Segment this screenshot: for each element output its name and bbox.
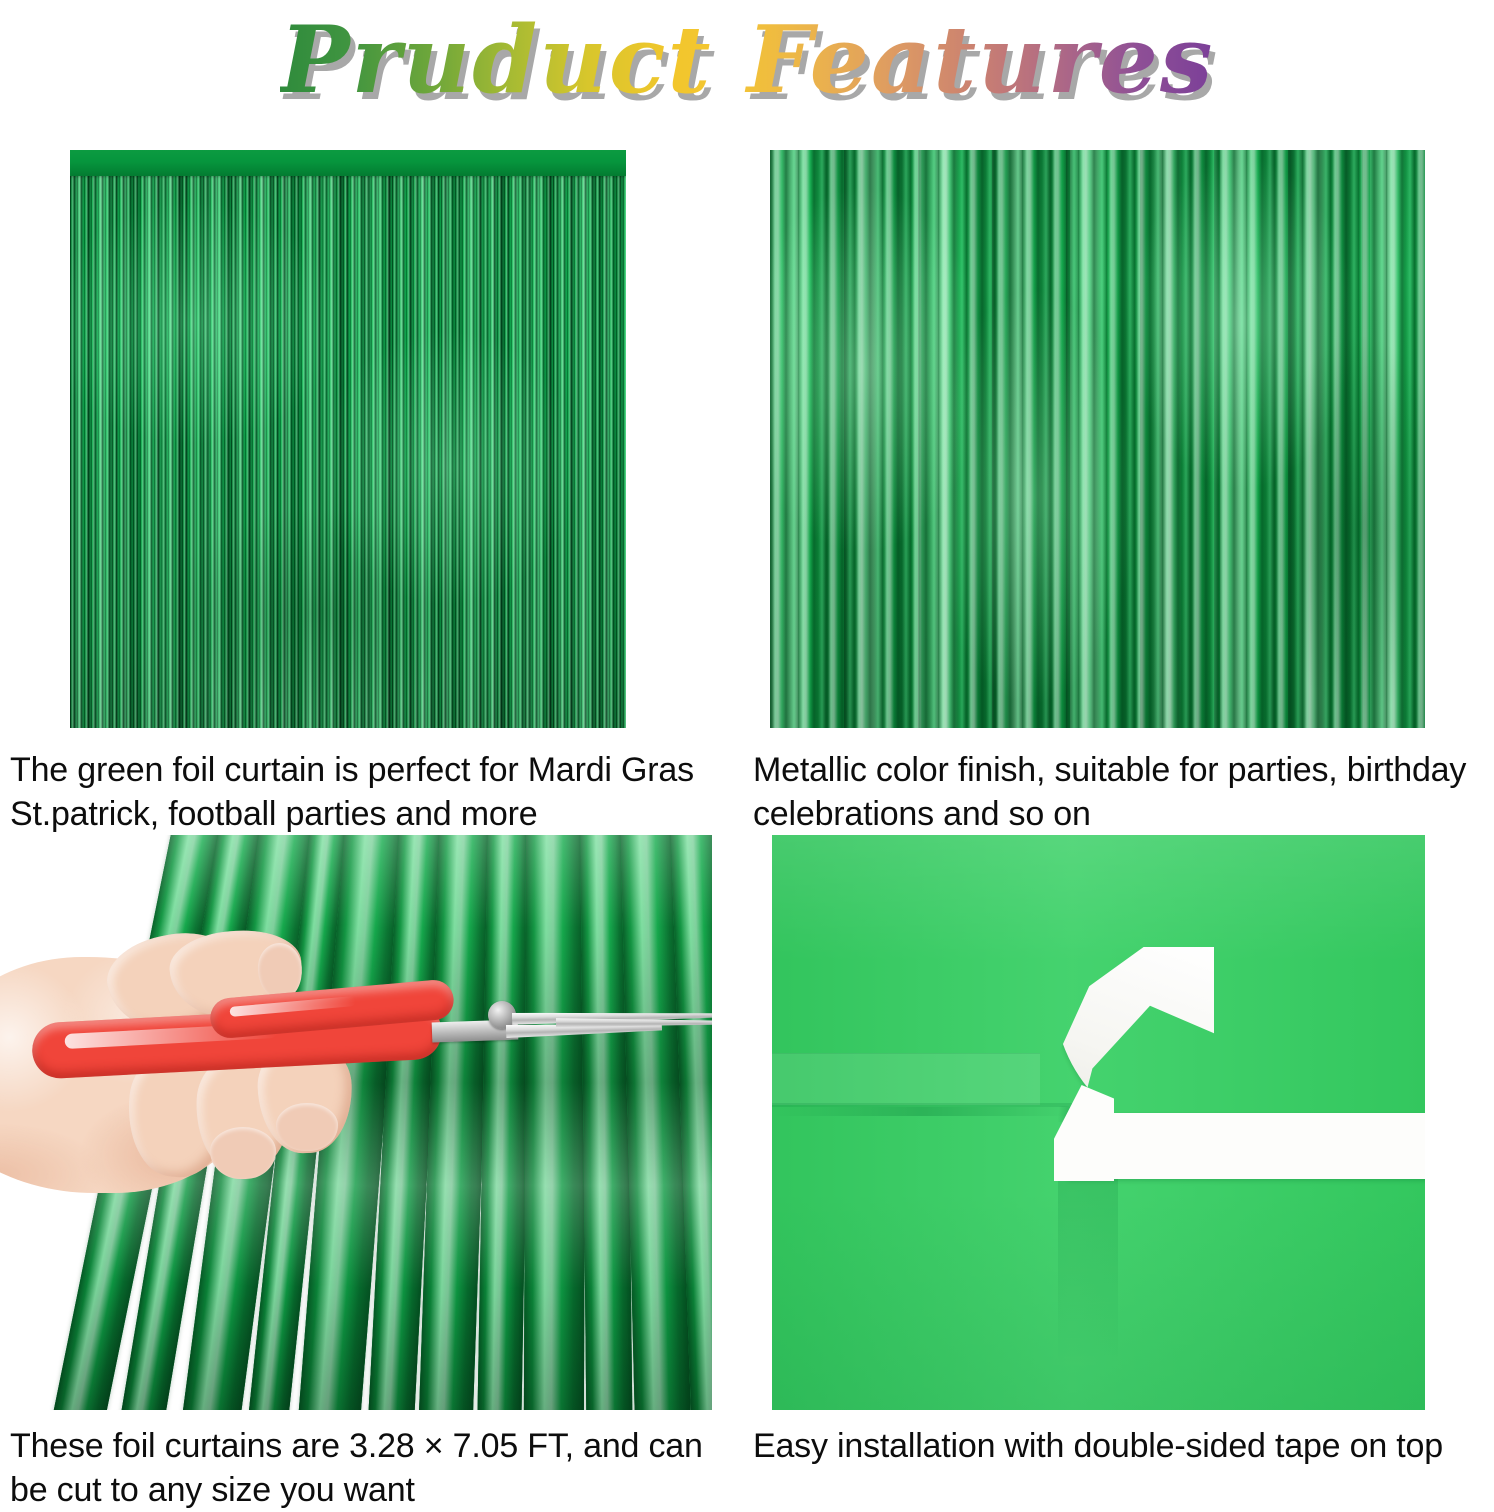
product-features-infographic: Pruduct Features Pruduct Features bbox=[0, 0, 1494, 1500]
sheet-crease-left bbox=[772, 1107, 1072, 1116]
caption-easy-installation: Easy installation with double-sided tape… bbox=[753, 1424, 1488, 1468]
fringe-foil-texture bbox=[70, 150, 626, 728]
feature-image-cutting-with-scissors bbox=[0, 835, 712, 1410]
feature-image-green-foil-curtain bbox=[70, 150, 626, 728]
sheet-highlight-band bbox=[772, 1053, 1040, 1105]
caption-green-foil-curtain: The green foil curtain is perfect for Ma… bbox=[10, 748, 730, 836]
caption-cuttable-size: These foil curtains are 3.28 × 7.05 FT, … bbox=[10, 1424, 710, 1512]
page-title: Pruduct Features Pruduct Features bbox=[0, 4, 1494, 114]
caption-metallic-finish: Metallic color finish, suitable for part… bbox=[753, 748, 1488, 836]
curtain-header-band bbox=[70, 150, 626, 176]
metallic-streak-texture bbox=[770, 150, 1425, 728]
feature-image-metallic-finish bbox=[770, 150, 1425, 728]
feature-image-double-sided-tape bbox=[772, 835, 1425, 1410]
title-gradient-text: Pruduct Features bbox=[280, 5, 1215, 114]
title-text-group: Pruduct Features Pruduct Features bbox=[280, 13, 1215, 106]
